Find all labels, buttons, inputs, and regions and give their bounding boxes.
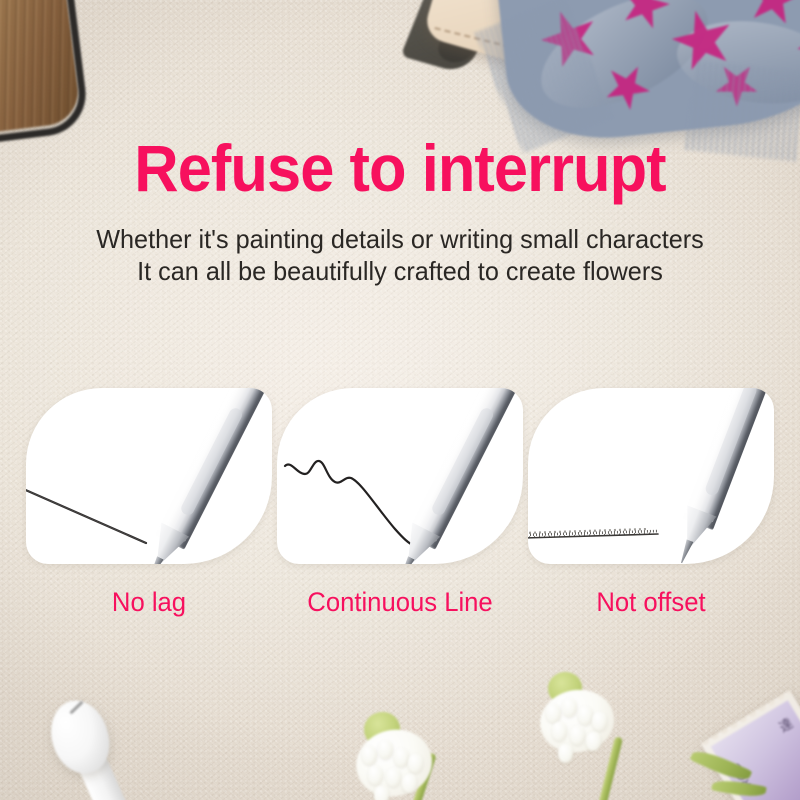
flower-bell [558,744,573,763]
flower-bell [394,748,409,767]
flower-bell [378,740,393,759]
feature-label-no-lag: No lag [32,586,266,618]
stamp-mark-text: 達 [775,713,796,736]
flower-bell [562,698,577,717]
flower-bell [374,786,389,800]
flower-bell [402,774,417,793]
feature-card-continuous-line[interactable] [277,388,523,564]
flower-bell [368,766,383,785]
feature-label-continuous-line: Continuous Line [283,586,517,618]
flower-bell [586,732,601,751]
subtitle-line-1: Whether it's painting details or writing… [12,222,788,256]
feature-label-not-offset: Not offset [534,586,768,618]
flower-bell [570,726,585,745]
flower-bell [386,768,401,787]
flower-bell [362,746,377,765]
feature-card-not-offset[interactable] [528,388,774,564]
page-title: Refuse to interrupt [28,132,772,204]
flower-bell [592,712,607,731]
flower-bell [546,704,561,723]
flower-bell [552,722,567,741]
feature-card-no-lag[interactable] [26,388,272,564]
flower-bell [408,754,423,773]
feature-panel-group [0,388,800,568]
flower-bell [578,706,593,725]
banner-canvas: Refuse to interrupt Whether it's paintin… [0,0,800,800]
subtitle-line-2: It can all be beautifully crafted to cre… [12,254,788,288]
